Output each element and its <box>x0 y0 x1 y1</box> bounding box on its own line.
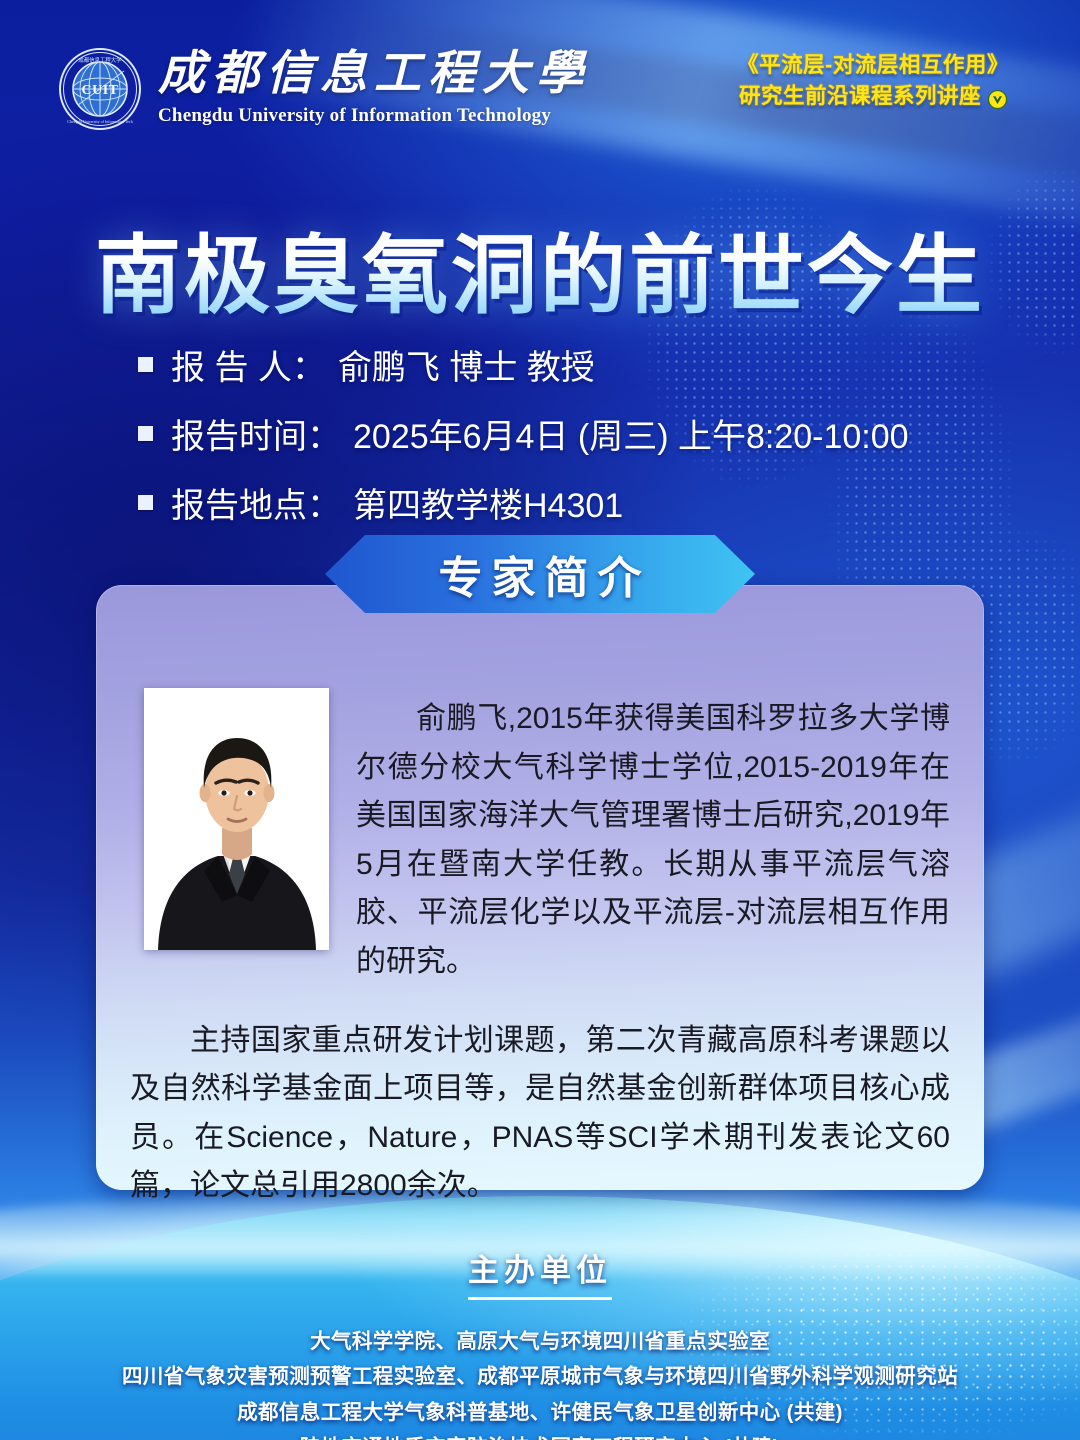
square-bullet-icon <box>138 357 153 372</box>
organizer-line: 成都信息工程大学气象科普基地、许健民气象卫星创新中心 (共建) <box>0 1395 1080 1430</box>
poster-root: CUIT 成都信息工程大学 Chengdu University of Info… <box>0 0 1080 1440</box>
poster-header: CUIT 成都信息工程大学 Chengdu University of Info… <box>0 0 1080 160</box>
svg-text:成都信息工程大学: 成都信息工程大学 <box>78 56 122 64</box>
info-label-location: 报告地点： <box>171 478 341 527</box>
v-badge-icon <box>988 87 1007 106</box>
info-label-speaker: 报 告 人： <box>171 340 326 389</box>
series-title-line2-text: 研究生前沿课程系列讲座 <box>739 81 981 112</box>
organizer-line: 大气科学学院、高原大气与环境四川省重点实验室 <box>0 1324 1080 1359</box>
organizer-line: 四川省气象灾害预测预警工程实验室、成都平原城市气象与环境四川省野外科学观测研究站 <box>0 1359 1080 1394</box>
bio-paragraph-1: 俞鹏飞,2015年获得美国科罗拉多大学博尔德分校大气科学博士学位,2015-20… <box>356 695 950 987</box>
info-value-location: 第四教学楼H4301 <box>353 478 623 527</box>
info-row-time: 报告时间： 2025年6月4日 (周三) 上午8:20-10:00 <box>138 409 998 458</box>
organizers-list: 大气科学学院、高原大气与环境四川省重点实验室 四川省气象灾害预测预警工程实验室、… <box>0 1324 1080 1440</box>
series-title-line2: 研究生前沿课程系列讲座 <box>708 81 1038 112</box>
expert-profile-banner-label: 专家简介 <box>430 542 651 606</box>
speaker-bio: 俞鹏飞,2015年获得美国科罗拉多大学博尔德分校大气科学博士学位,2015-20… <box>130 665 950 1241</box>
cuit-globe-seal-icon: CUIT 成都信息工程大学 Chengdu University of Info… <box>58 47 142 131</box>
lecture-series-label: 《平流层-对流层相互作用》 研究生前沿课程系列讲座 <box>708 50 1038 112</box>
university-logo-block: CUIT 成都信息工程大学 Chengdu University of Info… <box>58 47 590 131</box>
bio-paragraph-2: 主持国家重点研发计划课题，第二次青藏高原科考课题以及自然科学基金面上项目等，是自… <box>130 1017 950 1211</box>
info-label-time: 报告时间： <box>171 409 341 458</box>
university-name-cn: 成都信息工程大學 <box>158 51 590 98</box>
organizer-line: 陆地交通地质灾害防治技术国家工程研究中心 (共建) <box>0 1430 1080 1440</box>
svg-text:Chengdu University of Informat: Chengdu University of Information Tech <box>67 119 132 124</box>
svg-text:CUIT: CUIT <box>81 83 118 98</box>
info-row-speaker: 报 告 人： 俞鹏飞 博士 教授 <box>138 340 998 389</box>
info-row-location: 报告地点： 第四教学楼H4301 <box>138 478 998 527</box>
organizers-heading: 主办单位 <box>468 1245 612 1300</box>
university-name-en: Chengdu University of Information Techno… <box>158 105 590 127</box>
page-title: 南极臭氧洞的前世今生 <box>0 205 1080 330</box>
info-value-speaker: 俞鹏飞 博士 教授 <box>338 340 595 389</box>
info-value-time: 2025年6月4日 (周三) 上午8:20-10:00 <box>353 409 909 458</box>
university-name-block: 成都信息工程大學 Chengdu University of Informati… <box>158 51 590 127</box>
square-bullet-icon <box>138 495 153 510</box>
square-bullet-icon <box>138 426 153 441</box>
series-title-line1: 《平流层-对流层相互作用》 <box>708 50 1038 81</box>
organizers-section: 主办单位 大气科学学院、高原大气与环境四川省重点实验室 四川省气象灾害预测预警工… <box>0 1245 1080 1440</box>
lecture-info-list: 报 告 人： 俞鹏飞 博士 教授 报告时间： 2025年6月4日 (周三) 上午… <box>138 340 998 547</box>
expert-profile-banner: 专家简介 <box>325 535 755 613</box>
